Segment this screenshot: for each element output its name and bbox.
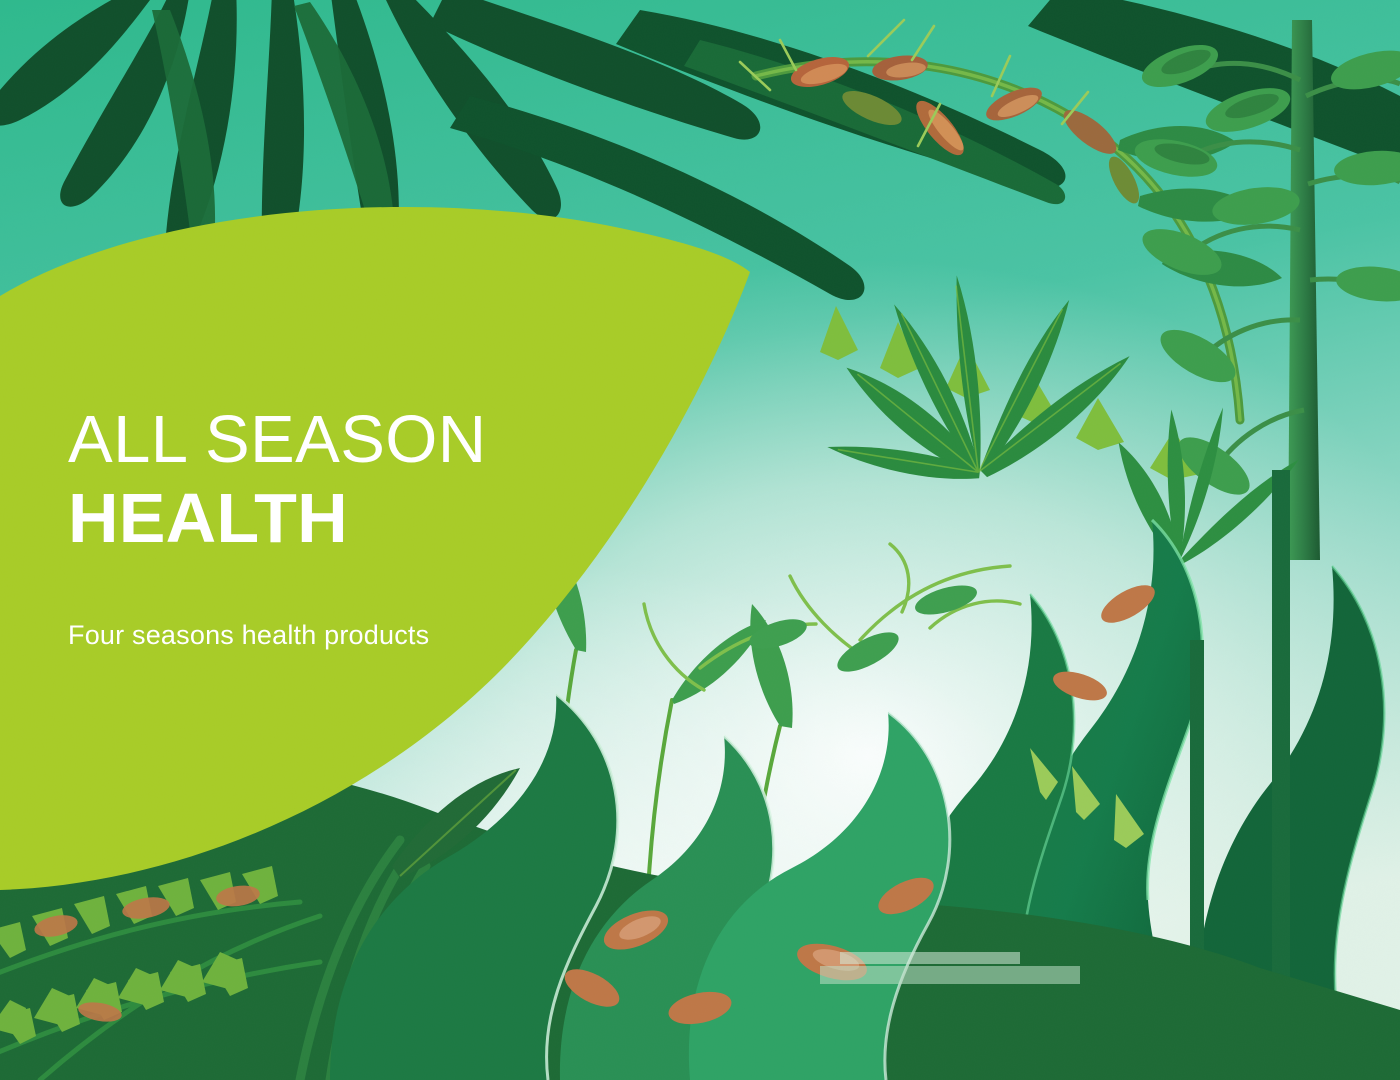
- banner-canvas: ALL SEASON HEALTH Four seasons health pr…: [0, 0, 1400, 1080]
- subtitle: Four seasons health products: [68, 618, 688, 652]
- title-line-2: HEALTH: [68, 480, 688, 556]
- title-line-1: ALL SEASON: [68, 404, 688, 476]
